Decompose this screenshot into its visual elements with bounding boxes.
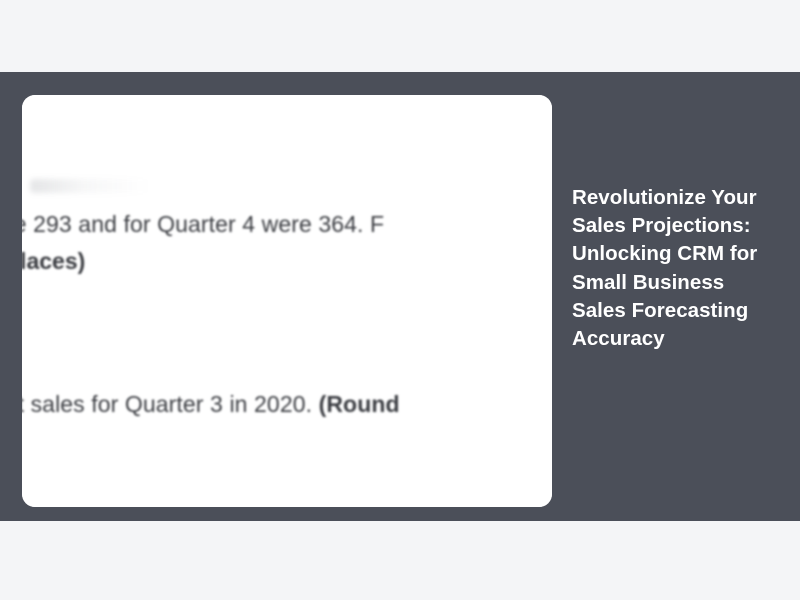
screenshot-card[interactable]: re 293 and for Quarter 4 were 364. F pla… xyxy=(22,95,552,507)
hero-band: re 293 and for Quarter 4 were 364. F pla… xyxy=(0,72,800,521)
document-text-line-1: re 293 and for Quarter 4 were 364. F xyxy=(22,207,384,241)
page-root: re 293 and for Quarter 4 were 364. F pla… xyxy=(0,0,800,600)
document-text-line-3-normal: st sales for Quarter 3 in 2020. xyxy=(22,391,319,417)
hero-content-row: re 293 and for Quarter 4 were 364. F pla… xyxy=(0,72,800,521)
document-text-line-3-emphasis: (Round xyxy=(319,391,400,417)
screenshot-surface: re 293 and for Quarter 4 were 364. F pla… xyxy=(22,95,552,507)
blur-smudge-artifact xyxy=(30,179,150,193)
document-text-line-3: st sales for Quarter 3 in 2020. (Round xyxy=(22,387,400,421)
article-headline: Revolutionize Your Sales Projections: Un… xyxy=(572,184,758,353)
document-text-line-2: places) xyxy=(22,244,85,278)
